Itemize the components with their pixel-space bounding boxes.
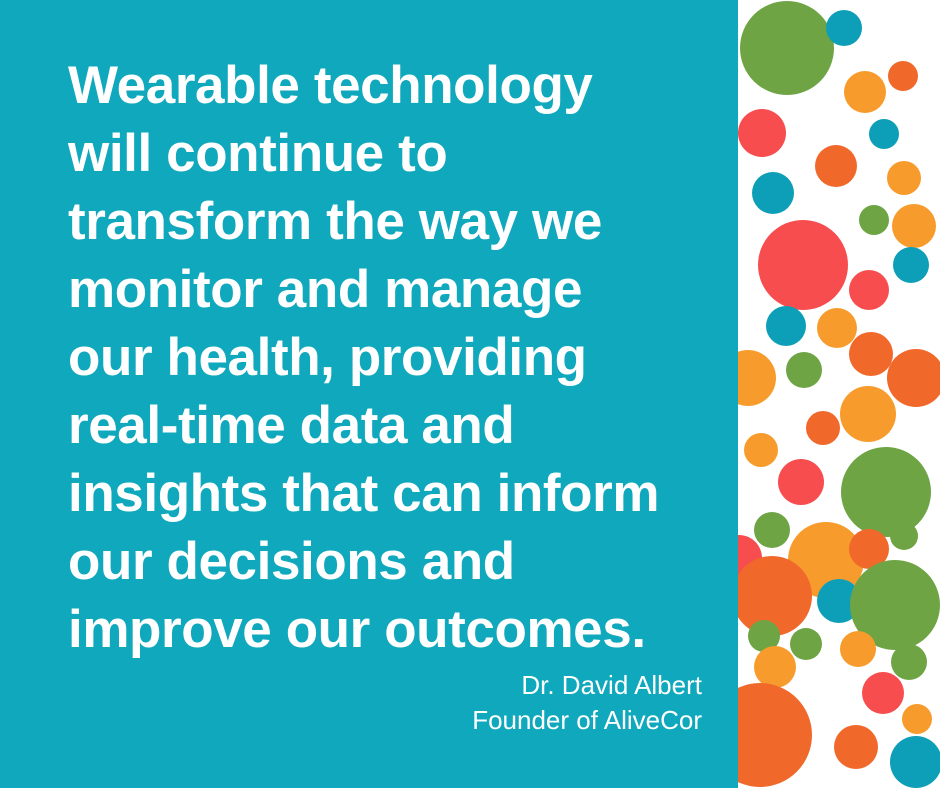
decorative-dot [752, 172, 794, 214]
decorative-dot [887, 161, 921, 195]
decorative-dot [887, 349, 940, 407]
attribution-title: Founder of AliveCor [182, 703, 702, 738]
decorative-dot [840, 631, 876, 667]
decorative-dot [754, 646, 796, 688]
decorative-dot [758, 220, 848, 310]
decorative-dot [815, 145, 857, 187]
decorative-dot [892, 204, 936, 248]
decorative-dot [766, 306, 806, 346]
decorative-dot [744, 433, 778, 467]
decorative-dot [890, 736, 940, 788]
decorative-dot [806, 411, 840, 445]
decorative-dot [893, 247, 929, 283]
dot-pattern-canvas [738, 0, 940, 788]
attribution-block: Dr. David Albert Founder of AliveCor [182, 668, 702, 738]
decorative-dot [841, 447, 931, 537]
decorative-dot [844, 71, 886, 113]
decorative-dot [869, 119, 899, 149]
decorative-dot [840, 386, 896, 442]
decorative-dot [738, 350, 776, 406]
decorative-dot [754, 512, 790, 548]
decorative-dot [826, 10, 862, 46]
decorative-dot [738, 683, 812, 787]
decorative-dot [888, 61, 918, 91]
decorative-dot [834, 725, 878, 769]
decorative-dot [738, 109, 786, 157]
decorative-dot [859, 205, 889, 235]
decorative-dot [740, 1, 834, 95]
attribution-name: Dr. David Albert [182, 668, 702, 703]
quote-card: Wearable technology will continue to tra… [0, 0, 940, 788]
decorative-dot [786, 352, 822, 388]
decorative-dot [862, 672, 904, 714]
quote-text: Wearable technology will continue to tra… [68, 52, 708, 664]
decorative-dot [817, 308, 857, 348]
decorative-dot [902, 704, 932, 734]
decorative-dot [778, 459, 824, 505]
decorative-dot-pattern [738, 0, 940, 788]
decorative-dot [890, 522, 918, 550]
decorative-dot [891, 644, 927, 680]
decorative-dot [849, 270, 889, 310]
decorative-dot [790, 628, 822, 660]
decorative-dot [849, 332, 893, 376]
